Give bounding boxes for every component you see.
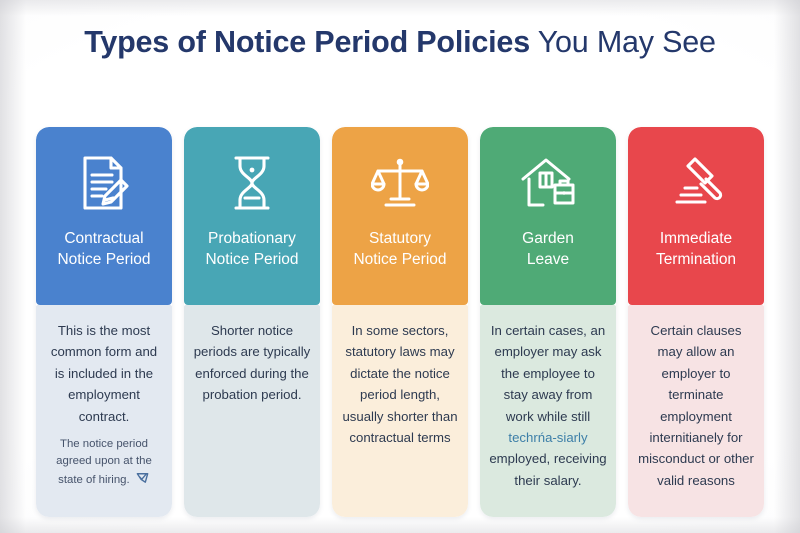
page-title: Types of Notice Period Policies You May … <box>0 26 800 60</box>
card-body-text-statutory: In some sectors, statutory laws may dict… <box>342 323 457 445</box>
policy-card-probationary[interactable]: ProbationaryNotice Period Shorter notice… <box>184 127 320 517</box>
card-header-immediate-termination: ImmediateTermination <box>628 127 764 305</box>
infographic-poster: Types of Notice Period Policies You May … <box>0 0 800 533</box>
policy-card-list: ContractualNotice Period This is the mos… <box>36 127 764 517</box>
card-body-text-garden-pre: In certain cases, an employer may ask th… <box>491 323 605 424</box>
card-header-contractual: ContractualNotice Period <box>36 127 172 305</box>
card-body-text-contractual: This is the most common form and is incl… <box>51 323 157 424</box>
card-header-garden-leave: GardenLeave <box>480 127 616 305</box>
house-briefcase-icon <box>519 146 577 220</box>
scales-of-justice-icon <box>371 146 429 220</box>
card-title-immediate-termination: ImmediateTermination <box>650 229 742 270</box>
card-body-garden-leave: In certain cases, an employer may ask th… <box>480 305 616 517</box>
page-title-light: You May See <box>530 25 716 59</box>
card-title-contractual: ContractualNotice Period <box>51 229 156 270</box>
policy-card-garden-leave[interactable]: GardenLeave In certain cases, an employe… <box>480 127 616 517</box>
check-flag-icon <box>135 470 150 491</box>
card-title-garden-leave: GardenLeave <box>516 229 580 270</box>
policy-card-immediate-termination[interactable]: ImmediateTermination Certain clauses may… <box>628 127 764 517</box>
card-header-statutory: StatutoryNotice Period <box>332 127 468 305</box>
hourglass-icon <box>227 146 277 220</box>
card-subtext-contractual: The notice period agreed upon at the sta… <box>45 436 163 491</box>
card-body-statutory: In some sectors, statutory laws may dict… <box>332 305 468 517</box>
card-body-text-immediate-termination: Certain clauses may allow an employer to… <box>638 323 754 488</box>
card-body-text-probationary: Shorter notice periods are typically enf… <box>194 323 311 402</box>
card-body-contractual: This is the most common form and is incl… <box>36 305 172 517</box>
card-body-immediate-termination: Certain clauses may allow an employer to… <box>628 305 764 517</box>
page-title-strong: Types of Notice Period Policies <box>84 25 530 59</box>
card-body-text-garden-artifact: techrńa-siarly <box>508 430 587 445</box>
card-title-statutory: StatutoryNotice Period <box>347 229 452 270</box>
card-body-text-garden-post: employed, receiving their salary. <box>489 451 606 487</box>
document-pencil-icon <box>77 146 131 220</box>
gavel-icon <box>668 146 724 220</box>
card-title-probationary: ProbationaryNotice Period <box>199 229 304 270</box>
policy-card-contractual[interactable]: ContractualNotice Period This is the mos… <box>36 127 172 517</box>
card-header-probationary: ProbationaryNotice Period <box>184 127 320 305</box>
card-body-probationary: Shorter notice periods are typically enf… <box>184 305 320 517</box>
policy-card-statutory[interactable]: StatutoryNotice Period In some sectors, … <box>332 127 468 517</box>
